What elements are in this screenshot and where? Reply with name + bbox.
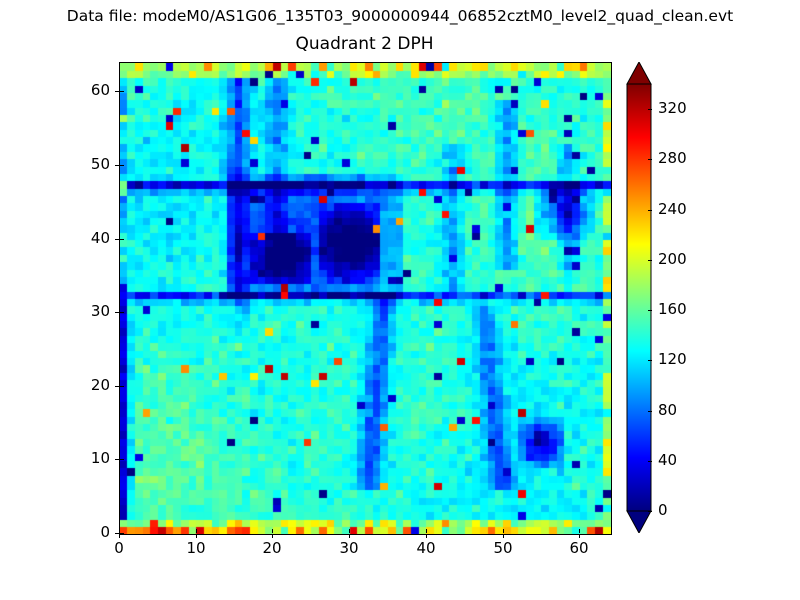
heatmap-image[interactable] [120,63,611,534]
y-tick-label: 40 [62,230,110,247]
y-tick-mark-inner [120,165,124,166]
colorbar-extend-max-arrow [627,62,651,84]
colorbar-tick-mark [648,109,652,110]
y-tick-mark [115,165,119,166]
x-tick-mark [196,534,197,538]
colorbar-extend-min-arrow [627,511,651,533]
colorbar-tick-label: 240 [658,201,687,218]
x-tick-mark-inner [579,529,580,533]
y-tick-mark-inner [120,459,124,460]
x-tick-label: 30 [319,540,379,557]
x-tick-mark-inner [426,529,427,533]
colorbar-tick-mark [648,360,652,361]
colorbar-tick-mark [648,461,652,462]
y-tick-label: 50 [62,156,110,173]
colorbar-tick-label: 0 [658,502,668,519]
colorbar-gradient [626,62,652,533]
y-tick-label: 0 [62,524,110,541]
y-tick-mark [115,239,119,240]
x-tick-mark-inner [196,529,197,533]
colorbar-tick-label: 320 [658,100,687,117]
y-tick-label: 30 [62,303,110,320]
y-tick-mark [115,91,119,92]
colorbar-body [627,84,651,511]
colorbar-tick-label: 120 [658,351,687,368]
y-tick-mark [115,533,119,534]
y-tick-mark-inner [120,533,124,534]
colorbar-tick-label: 160 [658,301,687,318]
x-tick-label: 20 [242,540,302,557]
x-tick-mark-inner [503,529,504,533]
y-tick-mark [115,312,119,313]
x-tick-mark [579,534,580,538]
colorbar-tick-mark [648,159,652,160]
colorbar-tick-mark [648,310,652,311]
y-tick-label: 20 [62,377,110,394]
colorbar-tick-mark [648,511,652,512]
x-tick-mark [119,534,120,538]
x-tick-mark [426,534,427,538]
y-tick-mark-inner [120,386,124,387]
x-tick-label: 10 [166,540,226,557]
x-tick-mark [349,534,350,538]
page-title: Quadrant 2 DPH [119,34,610,54]
colorbar-tick-label: 200 [658,251,687,268]
y-tick-label: 60 [62,82,110,99]
x-tick-mark [503,534,504,538]
x-tick-label: 40 [396,540,456,557]
colorbar-tick-mark [648,210,652,211]
colorbar-tick-label: 280 [658,150,687,167]
heatmap-axes[interactable] [119,62,612,535]
x-tick-mark-inner [272,529,273,533]
y-tick-mark-inner [120,312,124,313]
colorbar[interactable] [626,62,652,533]
y-tick-mark-inner [120,91,124,92]
x-tick-mark-inner [349,529,350,533]
colorbar-tick-label: 40 [658,452,677,469]
y-tick-mark [115,386,119,387]
y-tick-mark-inner [120,239,124,240]
colorbar-tick-mark [648,260,652,261]
x-tick-label: 60 [549,540,609,557]
x-tick-mark [272,534,273,538]
colorbar-tick-mark [648,411,652,412]
colorbar-tick-label: 80 [658,402,677,419]
y-tick-mark [115,459,119,460]
y-tick-label: 10 [62,450,110,467]
x-tick-label: 0 [89,540,149,557]
figure-canvas: Data file: modeM0/AS1G06_135T03_90000009… [0,0,800,600]
x-tick-label: 50 [473,540,533,557]
data-file-suptitle: Data file: modeM0/AS1G06_135T03_90000009… [0,7,800,25]
